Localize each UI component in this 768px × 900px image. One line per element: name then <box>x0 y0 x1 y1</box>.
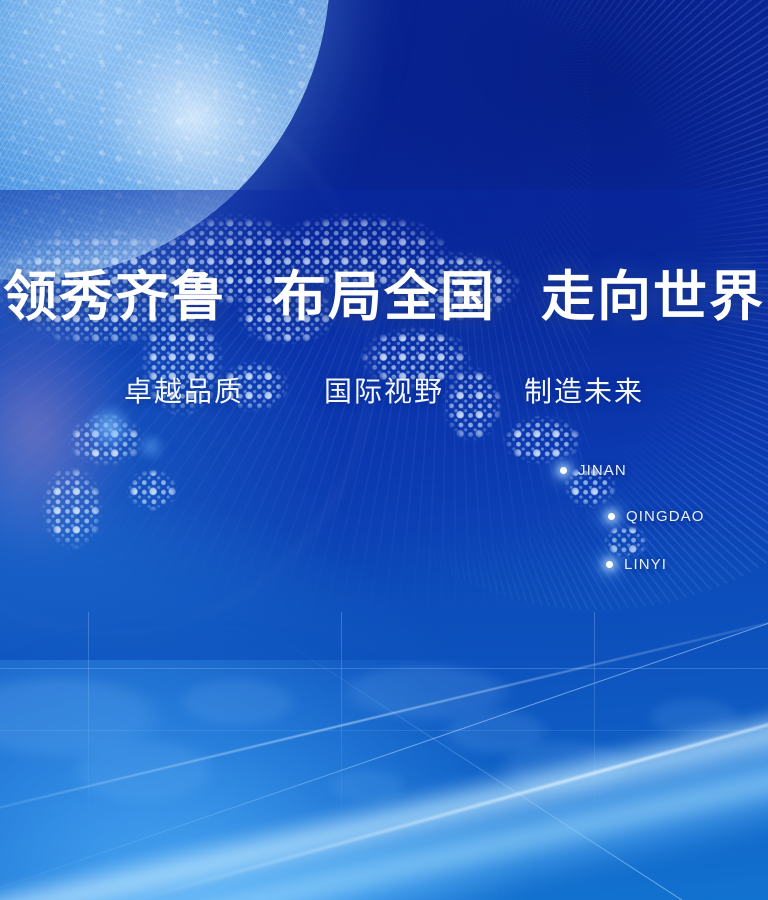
city-pin-icon <box>608 513 615 520</box>
city-marker-qingdao: QINGDAO <box>608 508 705 525</box>
city-label-linyi: LINYI <box>624 556 667 573</box>
subheadline-item-1: 卓越品质 <box>124 370 244 410</box>
subheadline-item-3: 制造未来 <box>524 370 644 410</box>
banner-headline: 领秀齐鲁 布局全国 走向世界 <box>0 268 768 326</box>
banner-content: 领秀齐鲁 布局全国 走向世界 卓越品质 国际视野 制造未来 JINAN QING… <box>0 0 768 900</box>
headline-segment-1: 领秀齐鲁 <box>3 267 227 327</box>
city-label-qingdao: QINGDAO <box>626 508 705 525</box>
headline-segment-3: 走向世界 <box>541 267 765 327</box>
city-marker-linyi: LINYI <box>606 556 667 573</box>
headline-segment-2: 布局全国 <box>272 267 496 327</box>
city-marker-jinan: JINAN <box>560 462 627 479</box>
subheadline-item-2: 国际视野 <box>324 370 444 410</box>
banner-subheadline: 卓越品质 国际视野 制造未来 <box>0 370 768 410</box>
city-label-jinan: JINAN <box>578 462 627 479</box>
city-pin-icon <box>606 561 613 568</box>
hero-banner: 领秀齐鲁 布局全国 走向世界 卓越品质 国际视野 制造未来 JINAN QING… <box>0 0 768 900</box>
city-pin-icon <box>560 467 567 474</box>
